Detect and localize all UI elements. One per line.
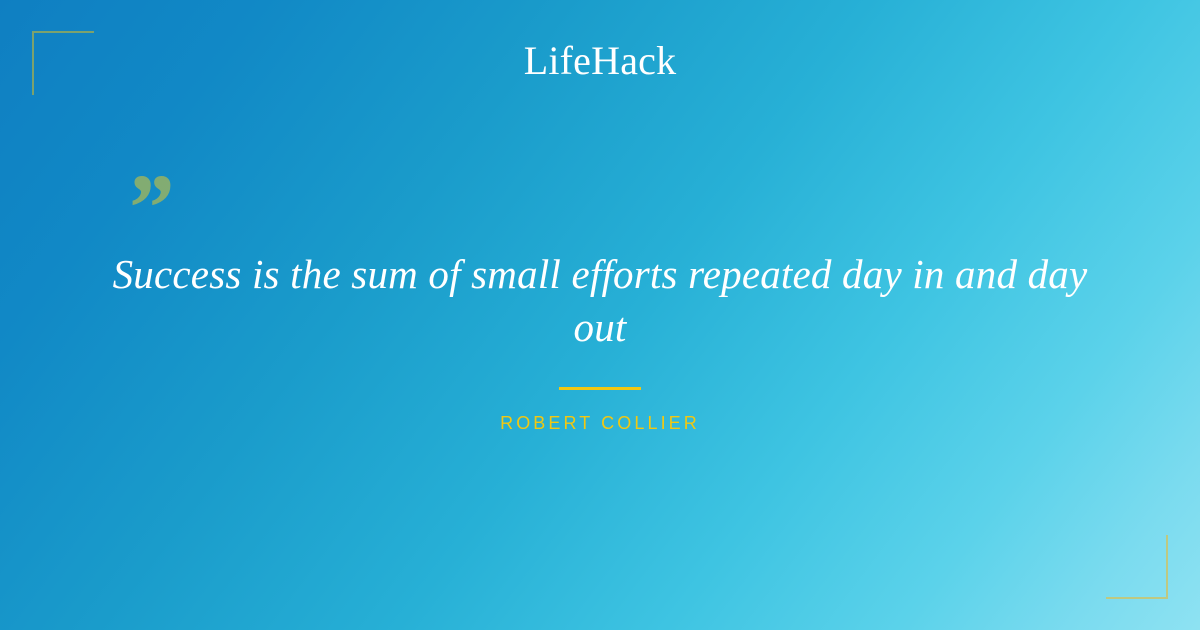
quote-text: Success is the sum of small efforts repe…	[100, 248, 1100, 354]
quote-author: ROBERT COLLIER	[100, 412, 1100, 434]
quote-card: LifeHack ” Success is the sum of small e…	[0, 0, 1200, 630]
quote-block: ” Success is the sum of small efforts re…	[100, 160, 1100, 434]
divider	[559, 387, 641, 390]
brand-logo: LifeHack	[0, 38, 1200, 84]
quotation-mark-icon: ”	[124, 160, 1100, 222]
corner-bracket-bottom-right-icon	[1106, 535, 1168, 599]
